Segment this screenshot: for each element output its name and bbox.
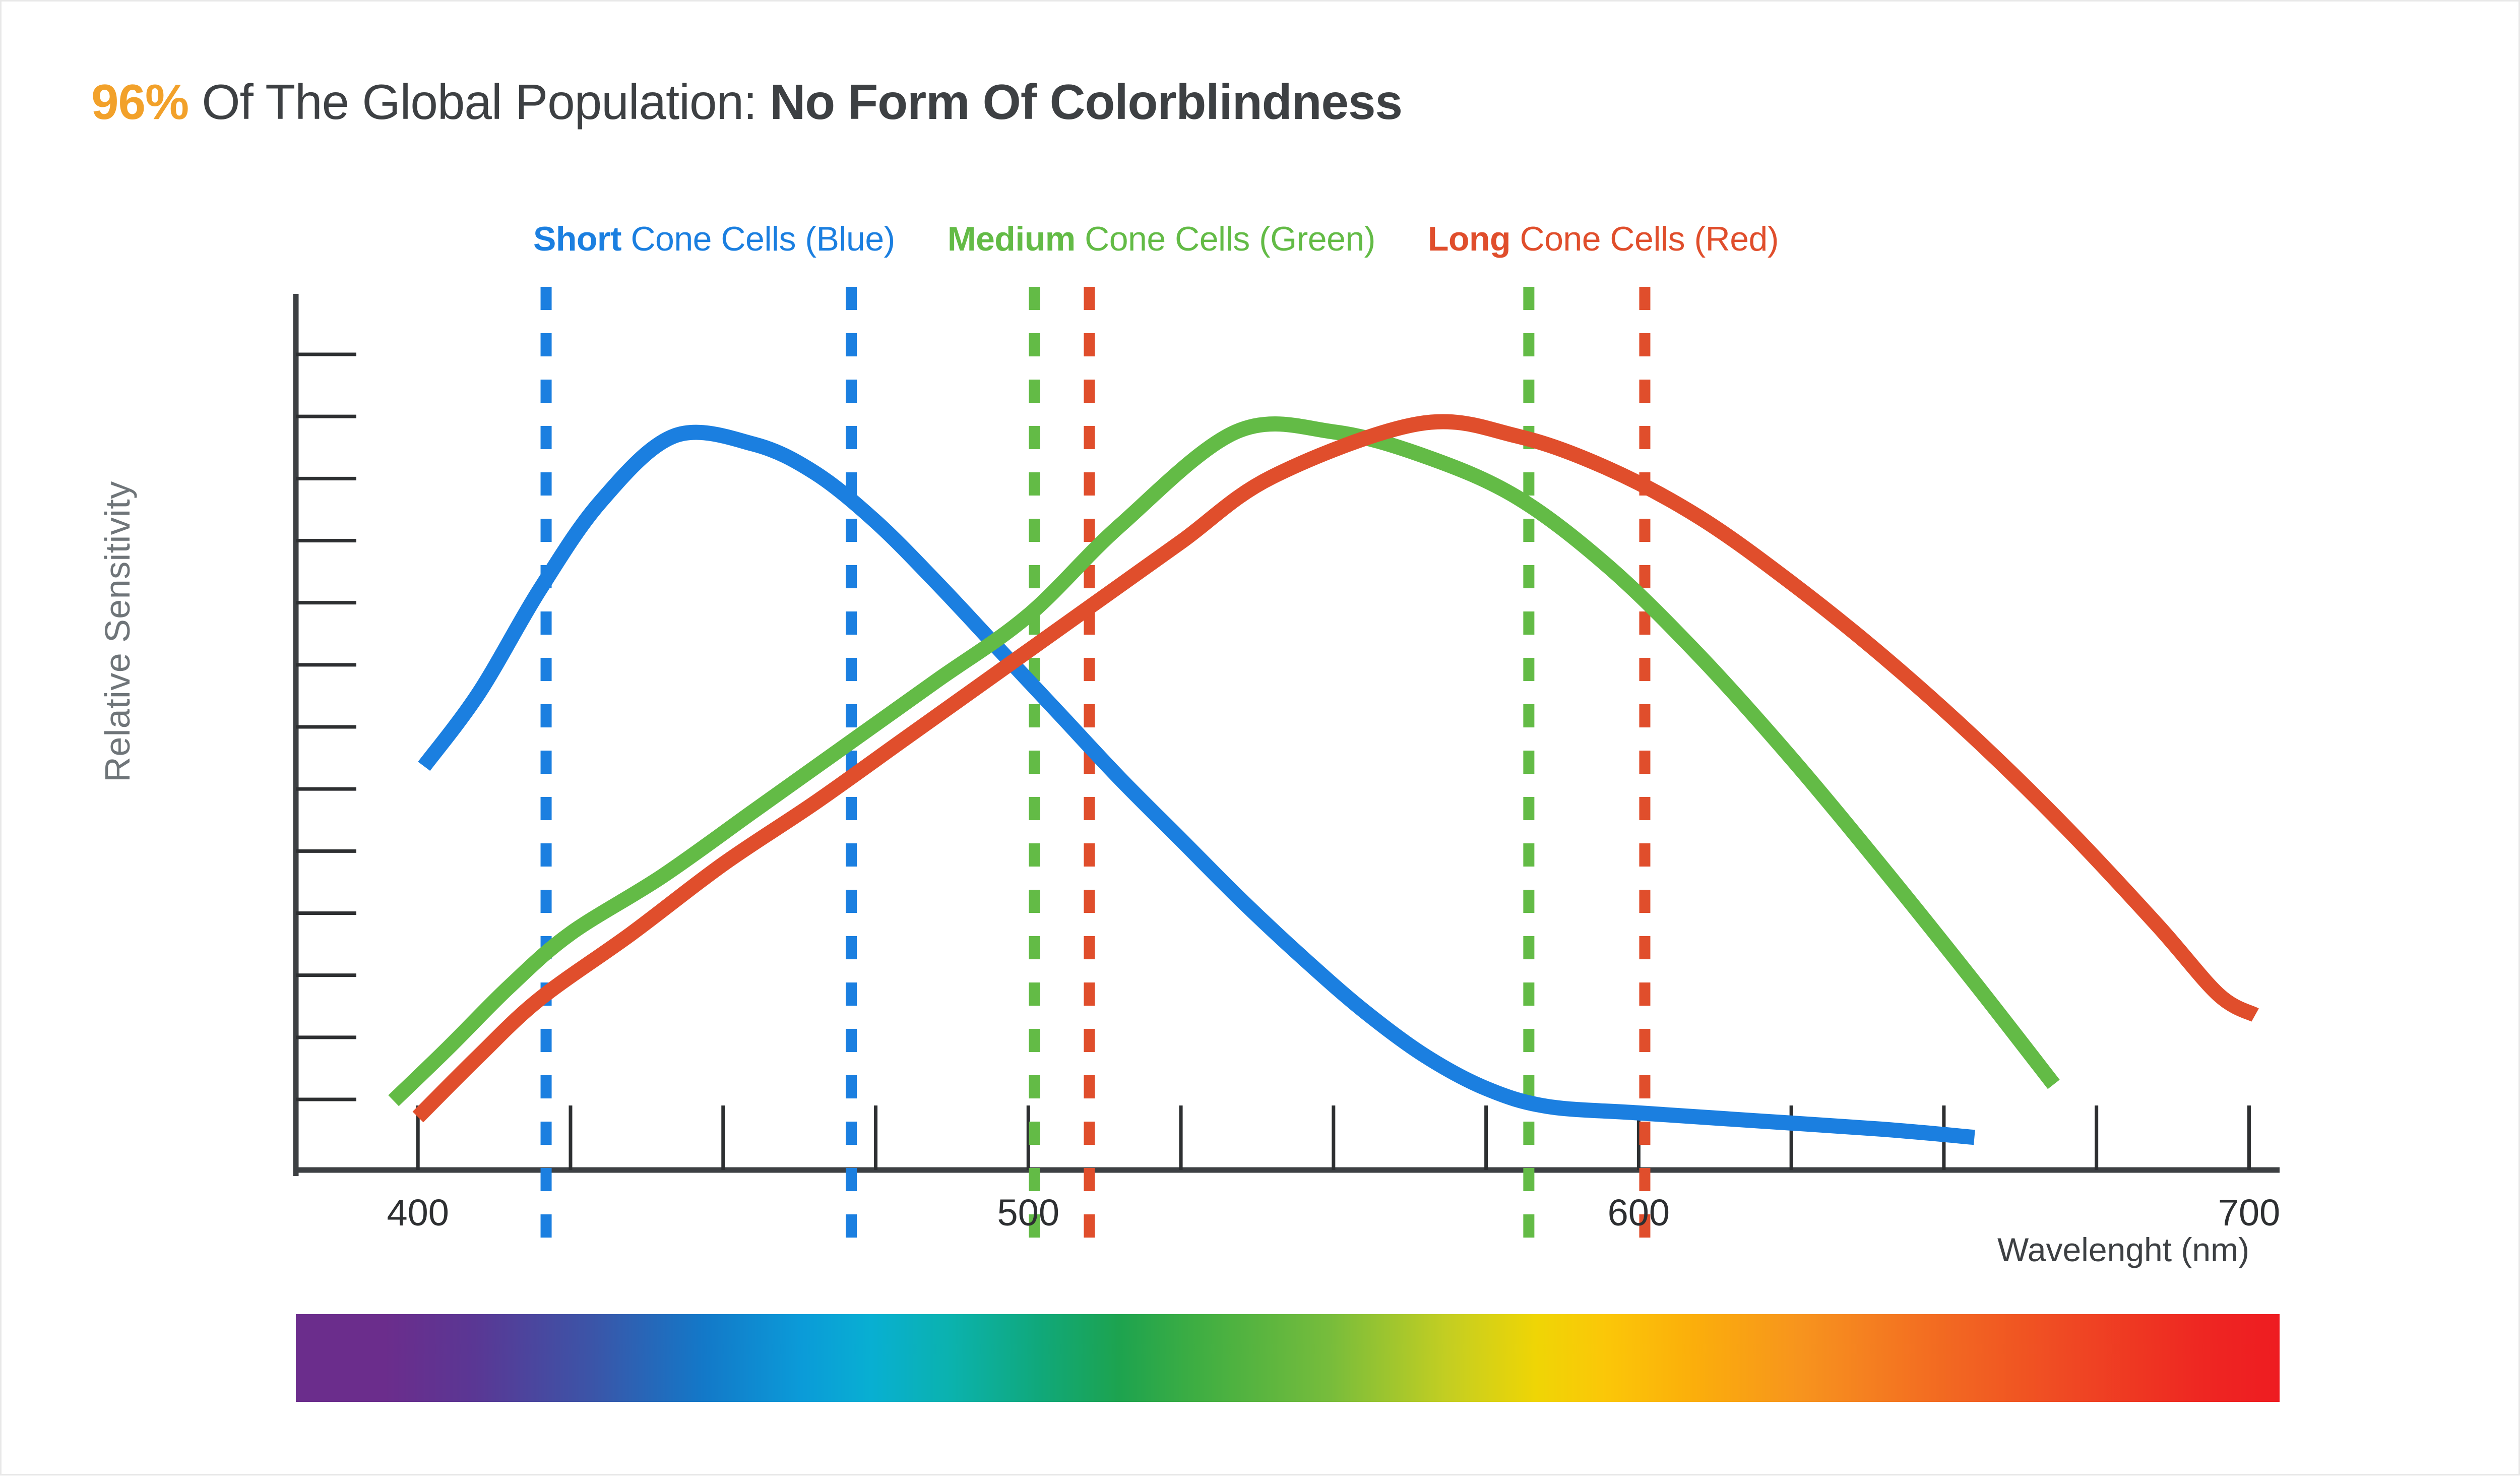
series-line-medium <box>394 424 2054 1101</box>
series-line-long <box>418 421 2255 1117</box>
y-axis-label: Relative Sensitivity <box>97 430 138 833</box>
y-axis-ticks <box>296 354 356 1099</box>
x-axis-tick-label: 500 <box>997 1191 1059 1234</box>
chart-page: 96% Of The Global Population: No Form Of… <box>0 0 2520 1475</box>
x-axis-tick-label: 600 <box>1608 1191 1670 1234</box>
x-axis-ticks <box>418 1105 2249 1170</box>
x-axis-tick-label: 400 <box>387 1191 449 1234</box>
visible-spectrum-bar <box>296 1314 2280 1402</box>
x-axis-label: Wavelenght (nm) <box>1997 1230 2249 1269</box>
x-axis-tick-label: 700 <box>2218 1191 2280 1234</box>
series-curves <box>394 421 2255 1137</box>
